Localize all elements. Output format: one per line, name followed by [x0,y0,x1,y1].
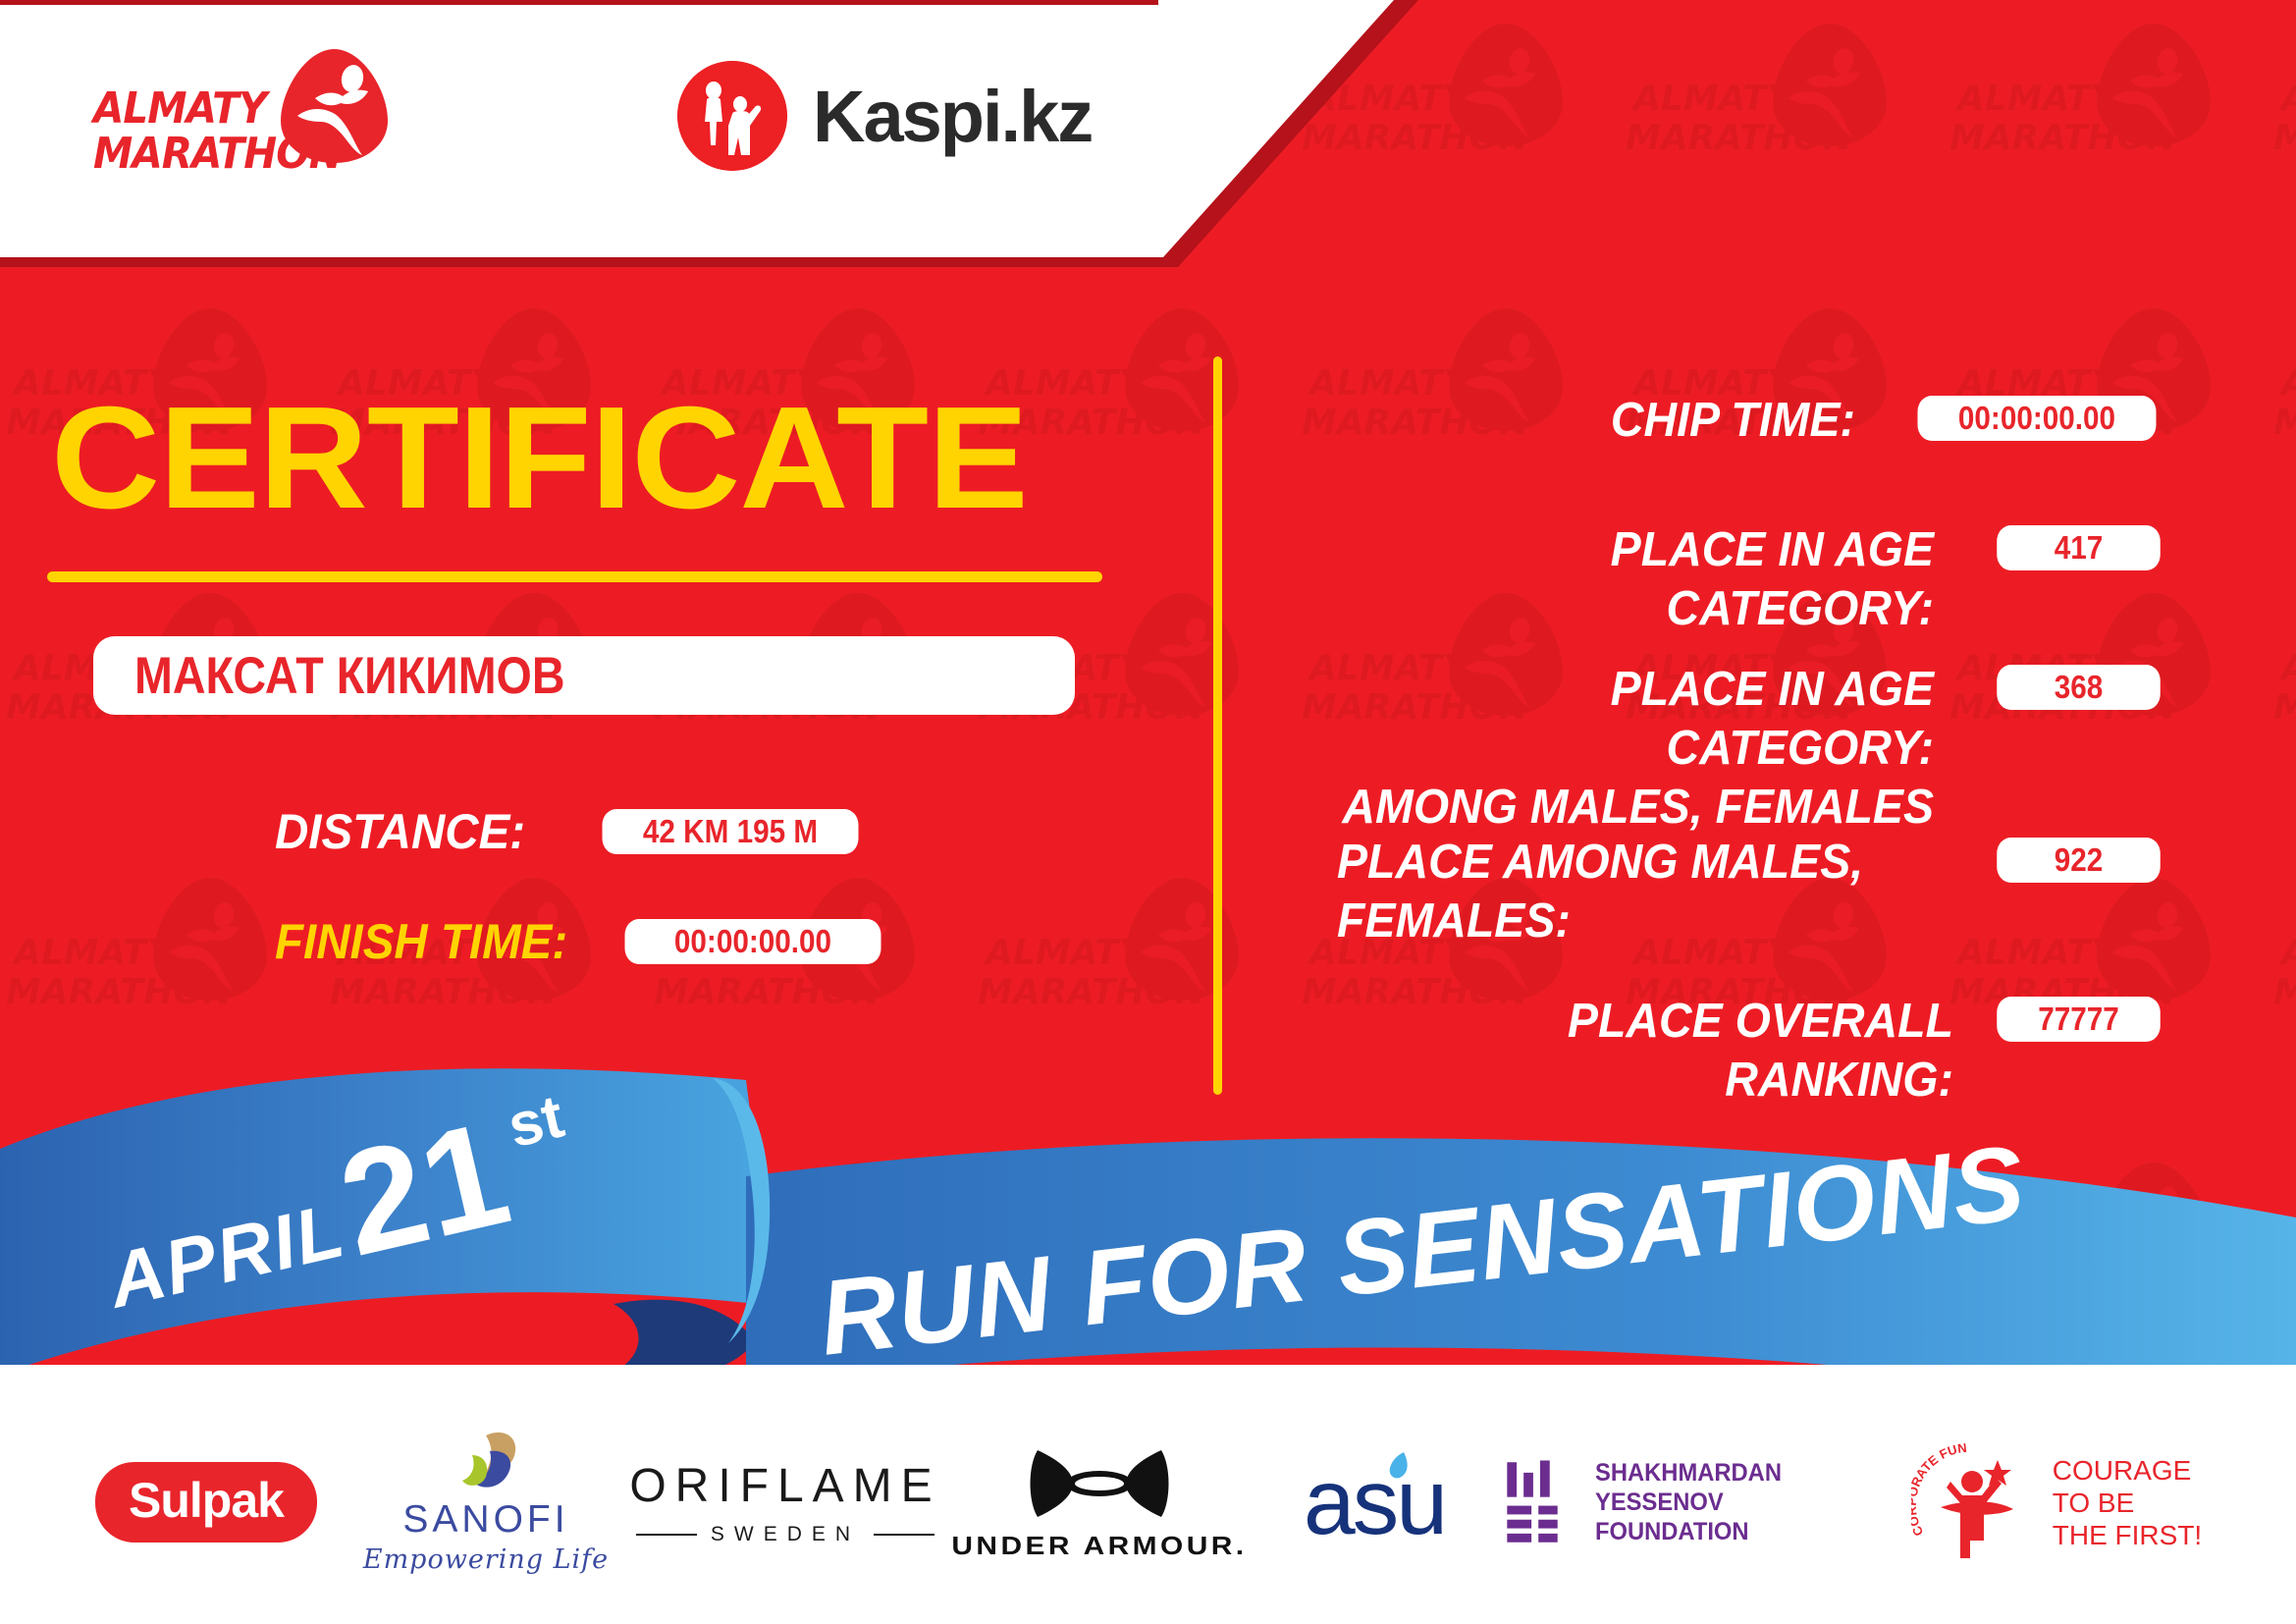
asu-wordmark: asu [1304,1456,1445,1549]
chip-time-label: CHIP TIME: [1333,391,1855,450]
runner-egg-icon [278,47,391,165]
yessenov-wordmark: SHAKHMARDAN YESSENOV FOUNDATION [1595,1458,1880,1546]
distance-label: DISTANCE: [275,803,525,860]
yessenov-mark-icon [1502,1455,1570,1549]
place-age-category-gender-value: 368 [1997,665,2161,710]
sanofi-wordmark: SANOFI [402,1498,568,1542]
title-divider [47,571,1102,582]
field-place-age-category-gender: PLACE IN AGE CATEGORY: AMONG MALES, FEMA… [1306,660,2169,837]
oriflame-rule-right [874,1534,934,1536]
place-among-gender-value: 922 [1997,838,2161,883]
sponsor-courage-fund: CORPORATE FUND COURAGE TO BE THE FIRST! [1895,1419,2218,1586]
almaty-marathon-logo: ALMATY MARATHON [93,47,417,180]
athlete-name-field: МАКСАТ КИКИМОВ [93,636,1075,715]
kaspi-wordmark: Kaspi.kz [813,75,1092,158]
courage-fund-icon: CORPORATE FUND [1911,1438,2039,1566]
sanofi-tagline: Empowering Life [363,1544,609,1575]
place-age-category-value: 417 [1997,525,2161,570]
kaspi-logo: Kaspi.kz [677,61,1092,171]
place-age-category-gender-label: PLACE IN AGE CATEGORY: AMONG MALES, FEMA… [1337,660,1934,837]
sponsor-oriflame: ORIFLAME SWEDEN [618,1419,952,1586]
asu-drop-icon [1386,1450,1412,1484]
page-title: CERTIFICATE [51,385,1028,532]
yessenov-line1: SHAKHMARDAN YESSENOV [1595,1458,1880,1517]
sponsor-under-armour: UNDER ARMOUR. [952,1419,1247,1586]
field-distance: DISTANCE: 42 KM 195 M [275,803,873,860]
sponsor-yessenov-foundation: SHAKHMARDAN YESSENOV FOUNDATION [1502,1419,1895,1586]
place-among-gender-label: PLACE AMONG MALES, FEMALES: [1337,833,1934,950]
place-overall-value: 77777 [1997,997,2161,1042]
chip-time-value: 00:00:00.00 [1918,396,2157,441]
oriflame-wordmark: ORIFLAME [629,1459,940,1513]
certificate-canvas: ALMATY MARATHON Kaspi.kz CERTIFICATE МАК… [0,0,2296,1624]
courage-line3: THE FIRST! [2053,1519,2202,1551]
almaty-marathon-logo-line1: ALMATY [93,86,266,132]
place-age-category-label: PLACE IN AGE CATEGORY: [1337,520,1934,638]
sulpak-logo: Sulpak [95,1462,317,1543]
distance-value: 42 KM 195 M [602,809,858,854]
field-place-age-category: PLACE IN AGE CATEGORY: 417 [1306,520,2169,638]
courage-fund-arc-text: CORPORATE FUND [1911,1438,1967,1539]
field-place-among-gender: PLACE AMONG MALES, FEMALES: 922 [1306,833,2169,950]
under-armour-icon [1026,1444,1173,1523]
under-armour-wordmark: UNDER ARMOUR. [951,1531,1247,1561]
yessenov-line2: FOUNDATION [1595,1517,1880,1546]
header-top-rule [0,0,1158,5]
column-divider [1213,356,1222,1095]
sponsor-sulpak: Sulpak [59,1419,353,1586]
sanofi-mark-icon [447,1430,525,1494]
field-chip-time: CHIP TIME: 00:00:00.00 [1306,391,2169,450]
finish-time-value: 00:00:00.00 [624,919,881,964]
courage-line2: TO BE [2053,1487,2202,1519]
field-finish-time: FINISH TIME: 00:00:00.00 [275,913,895,970]
finish-time-label: FINISH TIME: [275,913,567,970]
oriflame-tagline: SWEDEN [711,1523,860,1546]
kaspi-family-icon [677,61,787,171]
sponsor-asu: asu [1247,1419,1502,1586]
oriflame-rule-left [636,1534,697,1536]
sponsor-sanofi: SANOFI Empowering Life [353,1419,618,1586]
athlete-name-value: МАКСАТ КИКИМОВ [134,646,565,706]
courage-fund-wordmark: COURAGE TO BE THE FIRST! [2053,1454,2202,1551]
courage-line1: COURAGE [2053,1454,2202,1487]
sponsor-strip: Sulpak SANOFI Empowering Life ORIFLAME S… [0,1414,2296,1591]
